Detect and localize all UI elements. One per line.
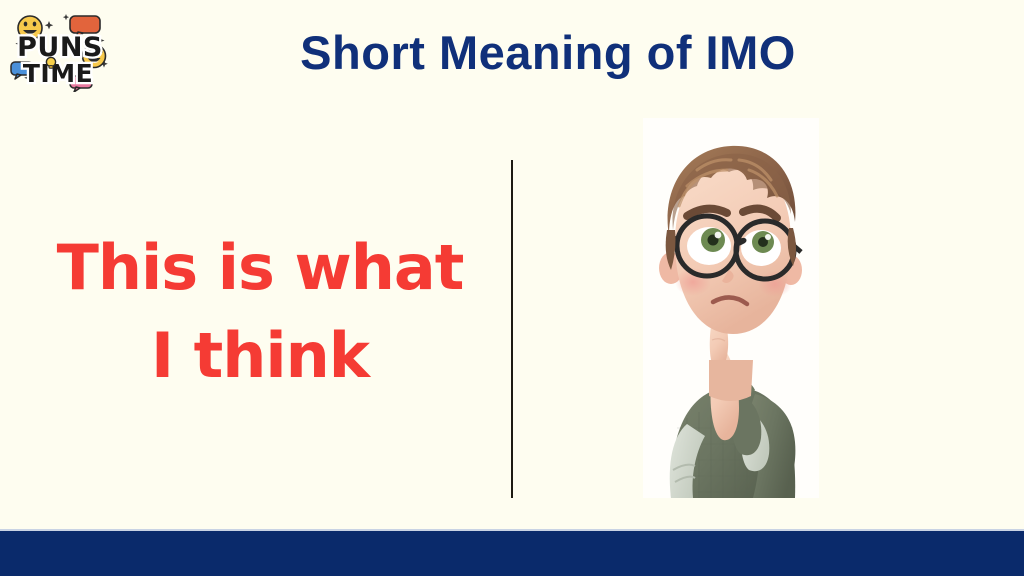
slide-canvas: PUNS TIME Short Meaning of IMO This is w…: [0, 0, 1024, 576]
phrase-line-2: I think: [40, 312, 480, 400]
puns-time-logo[interactable]: PUNS TIME: [8, 8, 116, 92]
page-title: Short Meaning of IMO: [128, 28, 968, 77]
vertical-divider: [511, 160, 513, 498]
logo-line2: TIME: [23, 59, 93, 88]
neck: [709, 360, 753, 401]
phrase-line-1: This is what: [40, 224, 480, 312]
meaning-phrase: This is what I think: [40, 224, 480, 400]
thinking-boy-illustration: [643, 118, 819, 498]
footer-bar: [0, 531, 1024, 576]
